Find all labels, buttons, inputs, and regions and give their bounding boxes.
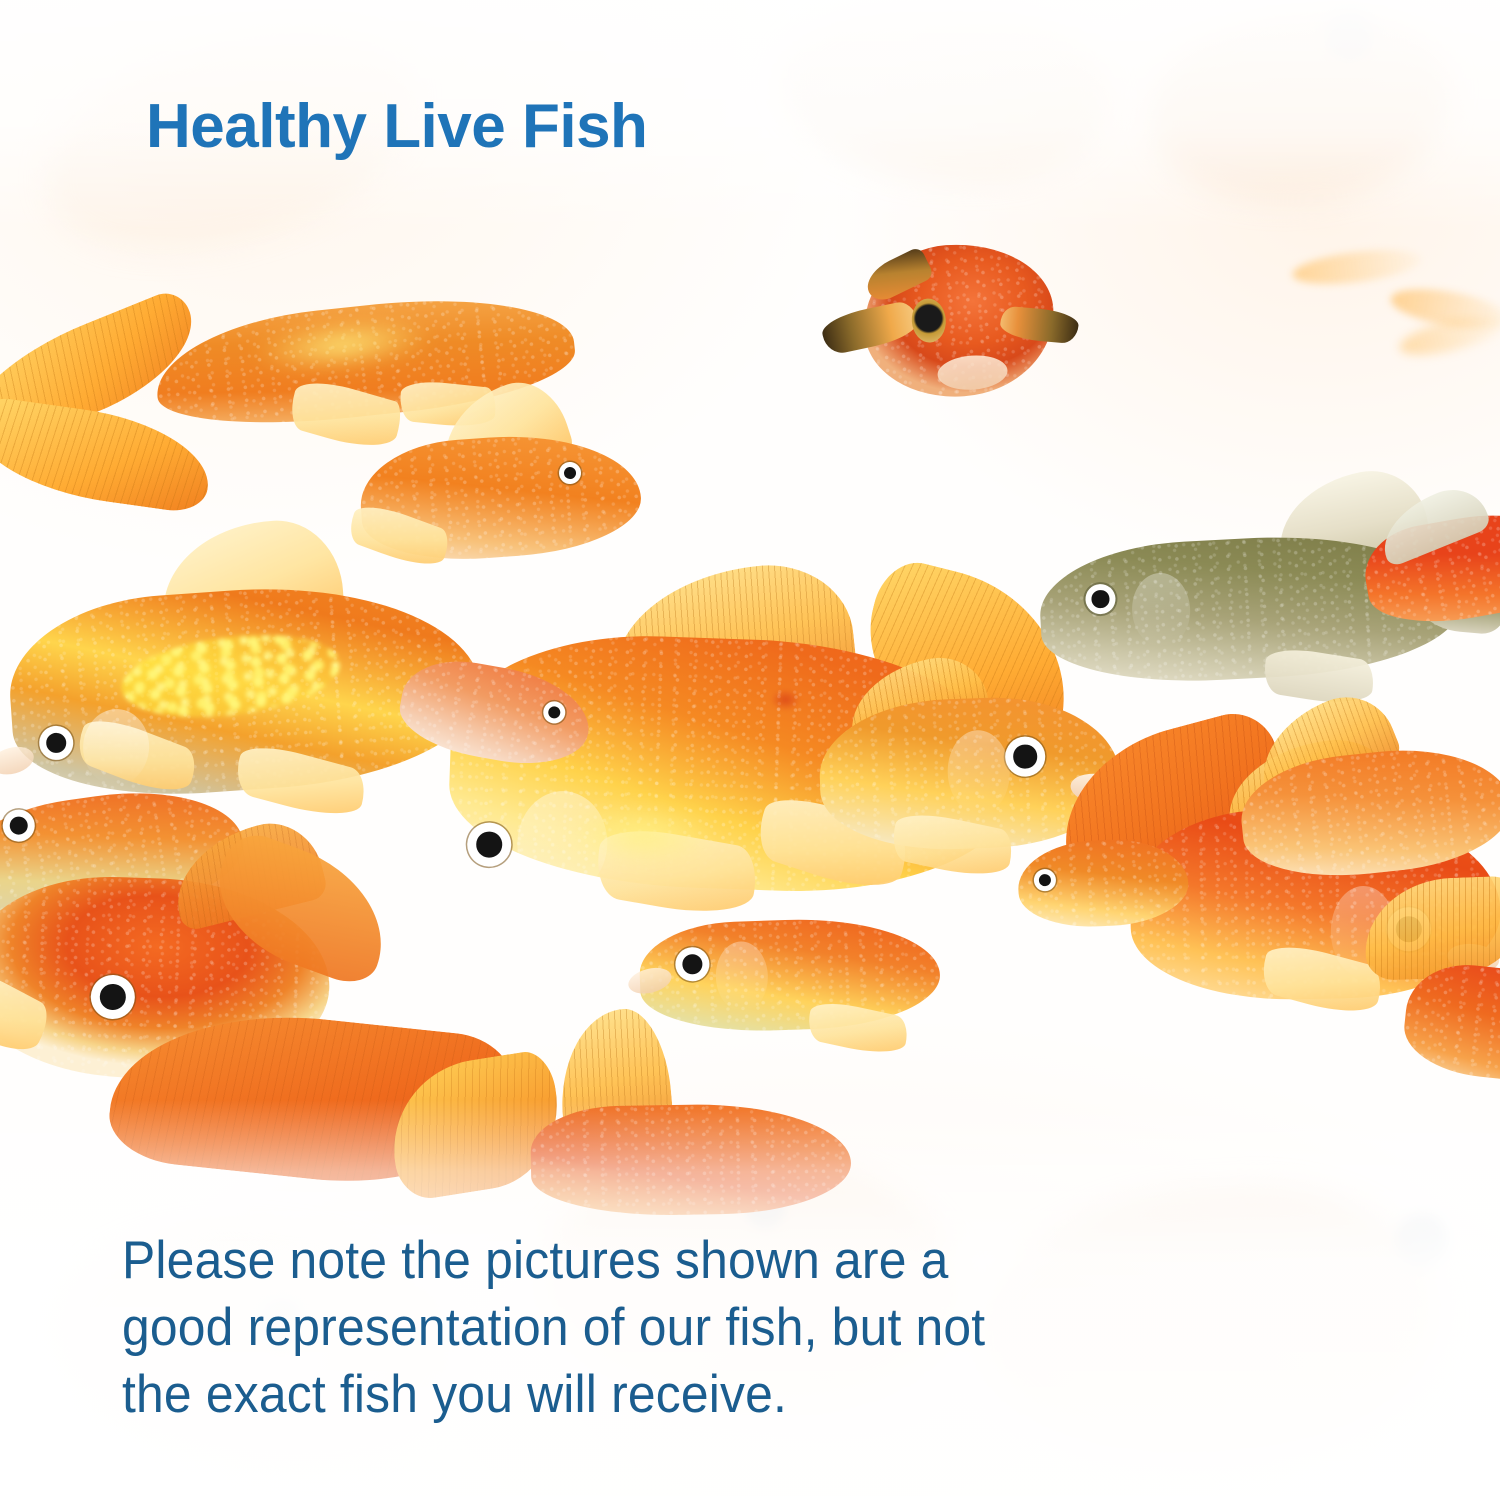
disclaimer-line-1: Please note the pictures shown are a (122, 1228, 1231, 1295)
disclaimer-line-2: good representation of our fish, but not (122, 1295, 1231, 1362)
fish-right-small-head (1006, 805, 1203, 955)
product-image-canvas: Healthy Live Fish Please note the pictur… (0, 0, 1500, 1496)
fish-body (1400, 959, 1500, 1086)
disclaimer-text: Please note the pictures shown are a goo… (122, 1228, 1231, 1428)
page-title: Healthy Live Fish (146, 96, 647, 158)
fish-body (394, 651, 597, 775)
fish-bottom-small (617, 894, 952, 1065)
fish-right-mid-orange (1230, 686, 1500, 914)
disclaimer-line-3: the exact fish you will receive. (122, 1362, 1231, 1429)
fish-front-facing-top (806, 229, 1067, 416)
